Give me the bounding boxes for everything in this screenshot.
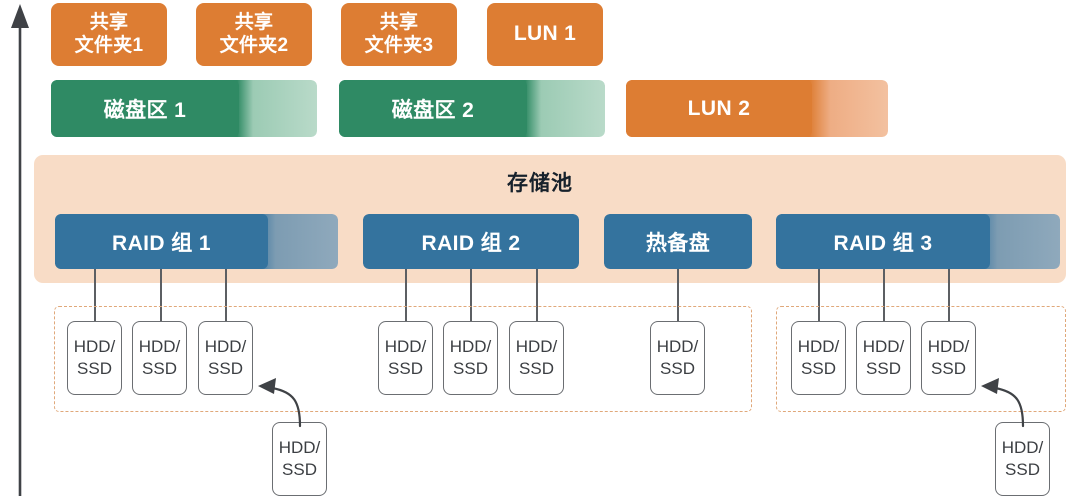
upward-direction-arrow xyxy=(6,0,34,496)
disk-volume-1-label: 磁盘区 1 xyxy=(51,80,317,137)
disk-hdd-ssd-replacement[interactable]: HDD/ SSD xyxy=(995,422,1050,496)
raid-group-3-label: RAID 组 3 xyxy=(776,214,1060,269)
lun-2-block[interactable]: LUN 2 xyxy=(626,80,888,137)
disk-hdd-ssd[interactable]: HDD/ SSD xyxy=(443,321,498,395)
raid-group-2[interactable]: RAID 组 2 xyxy=(363,214,579,269)
raid-group-1-label: RAID 组 1 xyxy=(55,214,338,269)
disk-hdd-ssd[interactable]: HDD/ SSD xyxy=(132,321,187,395)
disk-hdd-ssd[interactable]: HDD/ SSD xyxy=(650,321,705,395)
disk-hdd-ssd-replacement[interactable]: HDD/ SSD xyxy=(272,422,327,496)
lun-2-label: LUN 2 xyxy=(626,80,888,137)
share-folder-3[interactable]: 共享 文件夹3 xyxy=(341,3,457,66)
disk-hdd-ssd[interactable]: HDD/ SSD xyxy=(198,321,253,395)
disk-volume-2[interactable]: 磁盘区 2 xyxy=(339,80,605,137)
disk-hdd-ssd[interactable]: HDD/ SSD xyxy=(791,321,846,395)
storage-architecture-diagram: 共享 文件夹1 共享 文件夹2 共享 文件夹3 LUN 1 磁盘区 1 磁盘区 … xyxy=(0,0,1080,496)
replacement-arrow-right xyxy=(973,360,1043,430)
disk-hdd-ssd[interactable]: HDD/ SSD xyxy=(921,321,976,395)
lun-1-block[interactable]: LUN 1 xyxy=(487,3,603,66)
share-folder-1[interactable]: 共享 文件夹1 xyxy=(51,3,167,66)
raid-group-3[interactable]: RAID 组 3 xyxy=(776,214,1060,269)
storage-pool-title: 存储池 xyxy=(0,167,1080,197)
hot-spare-group[interactable]: 热备盘 xyxy=(604,214,752,269)
disk-volume-2-label: 磁盘区 2 xyxy=(339,80,605,137)
share-folder-2[interactable]: 共享 文件夹2 xyxy=(196,3,312,66)
replacement-arrow-left xyxy=(250,360,320,430)
disk-hdd-ssd[interactable]: HDD/ SSD xyxy=(67,321,122,395)
raid-group-2-label: RAID 组 2 xyxy=(363,214,579,269)
disk-hdd-ssd[interactable]: HDD/ SSD xyxy=(378,321,433,395)
disk-hdd-ssd[interactable]: HDD/ SSD xyxy=(509,321,564,395)
disk-volume-1[interactable]: 磁盘区 1 xyxy=(51,80,317,137)
disk-hdd-ssd[interactable]: HDD/ SSD xyxy=(856,321,911,395)
raid-group-1[interactable]: RAID 组 1 xyxy=(55,214,338,269)
hot-spare-label: 热备盘 xyxy=(604,214,752,269)
